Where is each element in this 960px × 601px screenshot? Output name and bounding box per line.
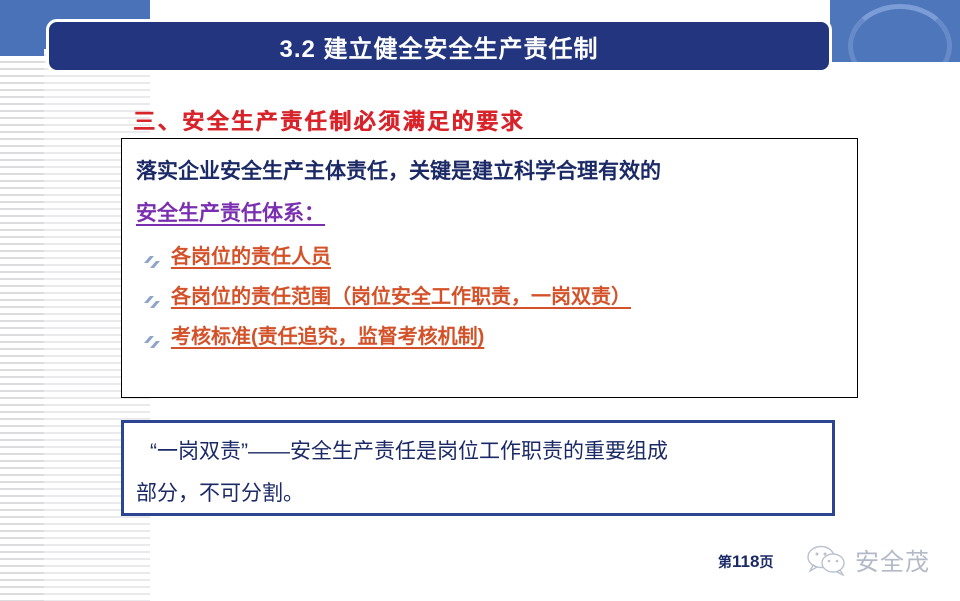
page-number-prefix: 第	[718, 554, 732, 570]
wechat-icon	[806, 544, 848, 576]
content-emphasis-line: 安全生产责任体系：	[136, 193, 325, 235]
callout-line-1: “一岗双责”——安全生产责任是岗位工作职责的重要组成	[136, 431, 820, 473]
decor-left-stripes	[0, 56, 44, 601]
section-heading: 三、安全生产责任制必须满足的要求	[133, 104, 525, 136]
decor-right-mask	[828, 62, 960, 102]
list-item: 各岗位的责任人员	[142, 237, 843, 277]
list-item: 考核标准(责任追究，监督考核机制)	[142, 317, 843, 357]
slide-title-banner: 3.2 建立健全安全生产责任制	[46, 19, 832, 73]
decor-left-blue-block	[0, 0, 44, 58]
list-item: 各岗位的责任范围（岗位安全工作职责，一岗双责）	[142, 277, 843, 317]
diamond-bullet-icon	[142, 328, 162, 348]
callout-line-2: 部分，不可分割。	[136, 473, 820, 515]
diamond-bullet-icon	[142, 288, 162, 308]
content-box: 落实企业安全生产主体责任，关键是建立科学合理有效的 安全生产责任体系： 各岗位的…	[121, 138, 858, 398]
page-number-value: 118	[732, 552, 759, 571]
callout-box: “一岗双责”——安全生产责任是岗位工作职责的重要组成 部分，不可分割。	[121, 420, 835, 516]
list-item-label: 各岗位的责任范围（岗位安全工作职责，一岗双责）	[171, 277, 631, 317]
page-number: 第118页	[718, 552, 773, 572]
content-intro-line: 落实企业安全生产主体责任，关键是建立科学合理有效的	[136, 151, 843, 193]
watermark-label: 安全茂	[855, 542, 930, 577]
page-number-suffix: 页	[759, 554, 773, 570]
diamond-bullet-icon	[142, 248, 162, 268]
list-item-label: 考核标准(责任追究，监督考核机制)	[171, 317, 484, 357]
content-emphasis-wrap: 安全生产责任体系：	[136, 193, 843, 237]
list-item-label: 各岗位的责任人员	[171, 237, 331, 277]
page-title: 3.2 建立健全安全生产责任制	[279, 29, 598, 64]
slide-canvas: 3.2 建立健全安全生产责任制 三、安全生产责任制必须满足的要求 落实企业安全生…	[0, 0, 960, 601]
watermark: 安全茂	[806, 542, 930, 577]
